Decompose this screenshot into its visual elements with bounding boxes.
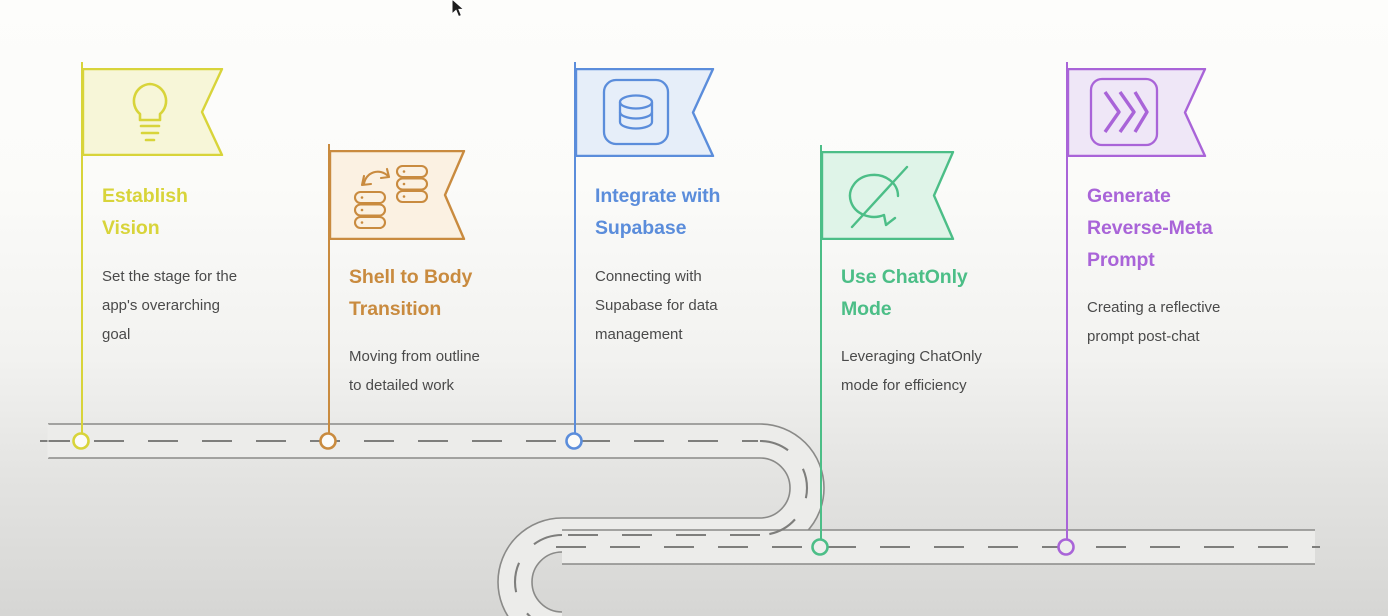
milestone-title: Use ChatOnly Mode bbox=[841, 261, 1056, 325]
milestone-description: Creating a reflective prompt post-chat bbox=[1087, 293, 1287, 351]
flag-banner bbox=[1067, 68, 1207, 157]
milestone-title: Establish Vision bbox=[102, 180, 312, 244]
flag-banner bbox=[82, 68, 224, 156]
mouse-arrow-cursor bbox=[450, 0, 466, 20]
milestone-description: Connecting with Supabase for data manage… bbox=[595, 262, 790, 349]
milestone-description: Set the stage for the app's overarching … bbox=[102, 262, 302, 349]
milestone-title: Shell to Body Transition bbox=[349, 261, 564, 325]
flag-banner bbox=[821, 151, 955, 240]
flag-banner bbox=[575, 68, 715, 157]
roadmap-canvas: Establish Vision Set the stage for the a… bbox=[0, 0, 1388, 616]
milestone-title: Integrate with Supabase bbox=[595, 180, 810, 244]
milestone-description: Leveraging ChatOnly mode for efficiency bbox=[841, 342, 1046, 400]
milestone-description: Moving from outline to detailed work bbox=[349, 342, 549, 400]
flag-banner bbox=[329, 150, 466, 240]
milestone-title: Generate Reverse-Meta Prompt bbox=[1087, 180, 1287, 276]
